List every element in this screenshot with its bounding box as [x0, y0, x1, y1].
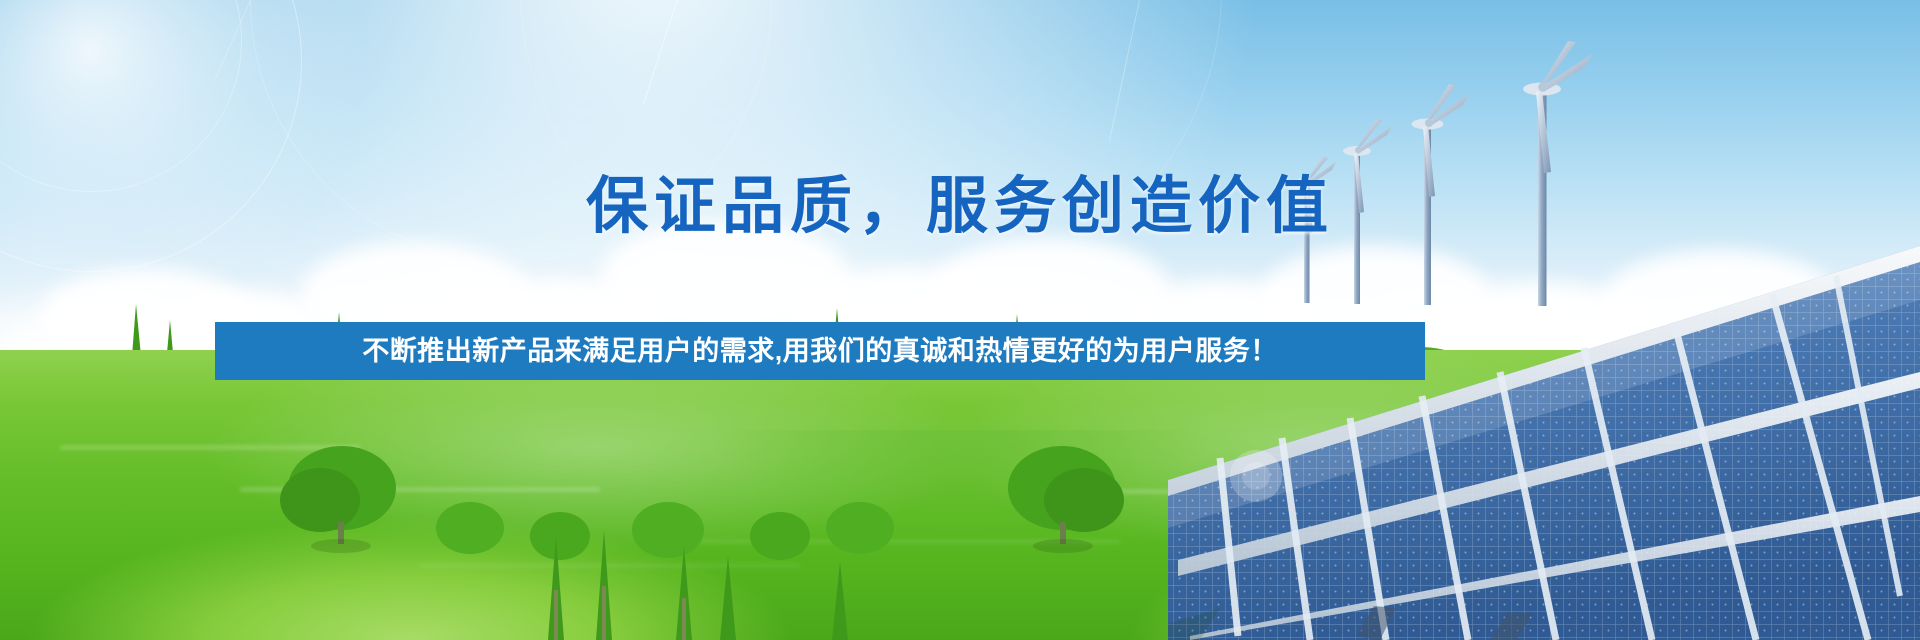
hero-banner: 保证品质，服务创造价值 不断推出新产品来满足用户的需求,用我们的真诚和热情更好的…	[0, 0, 1920, 640]
subtitle-bar: 不断推出新产品来满足用户的需求,用我们的真诚和热情更好的为用户服务！	[215, 322, 1425, 380]
wind-turbine	[1523, 41, 1592, 306]
subtitle-text: 不断推出新产品来满足用户的需求,用我们的真诚和热情更好的为用户服务！	[362, 338, 1278, 365]
page-title: 保证品质，服务创造价值	[0, 176, 1920, 238]
renewable-energy-scene	[1160, 0, 1920, 640]
